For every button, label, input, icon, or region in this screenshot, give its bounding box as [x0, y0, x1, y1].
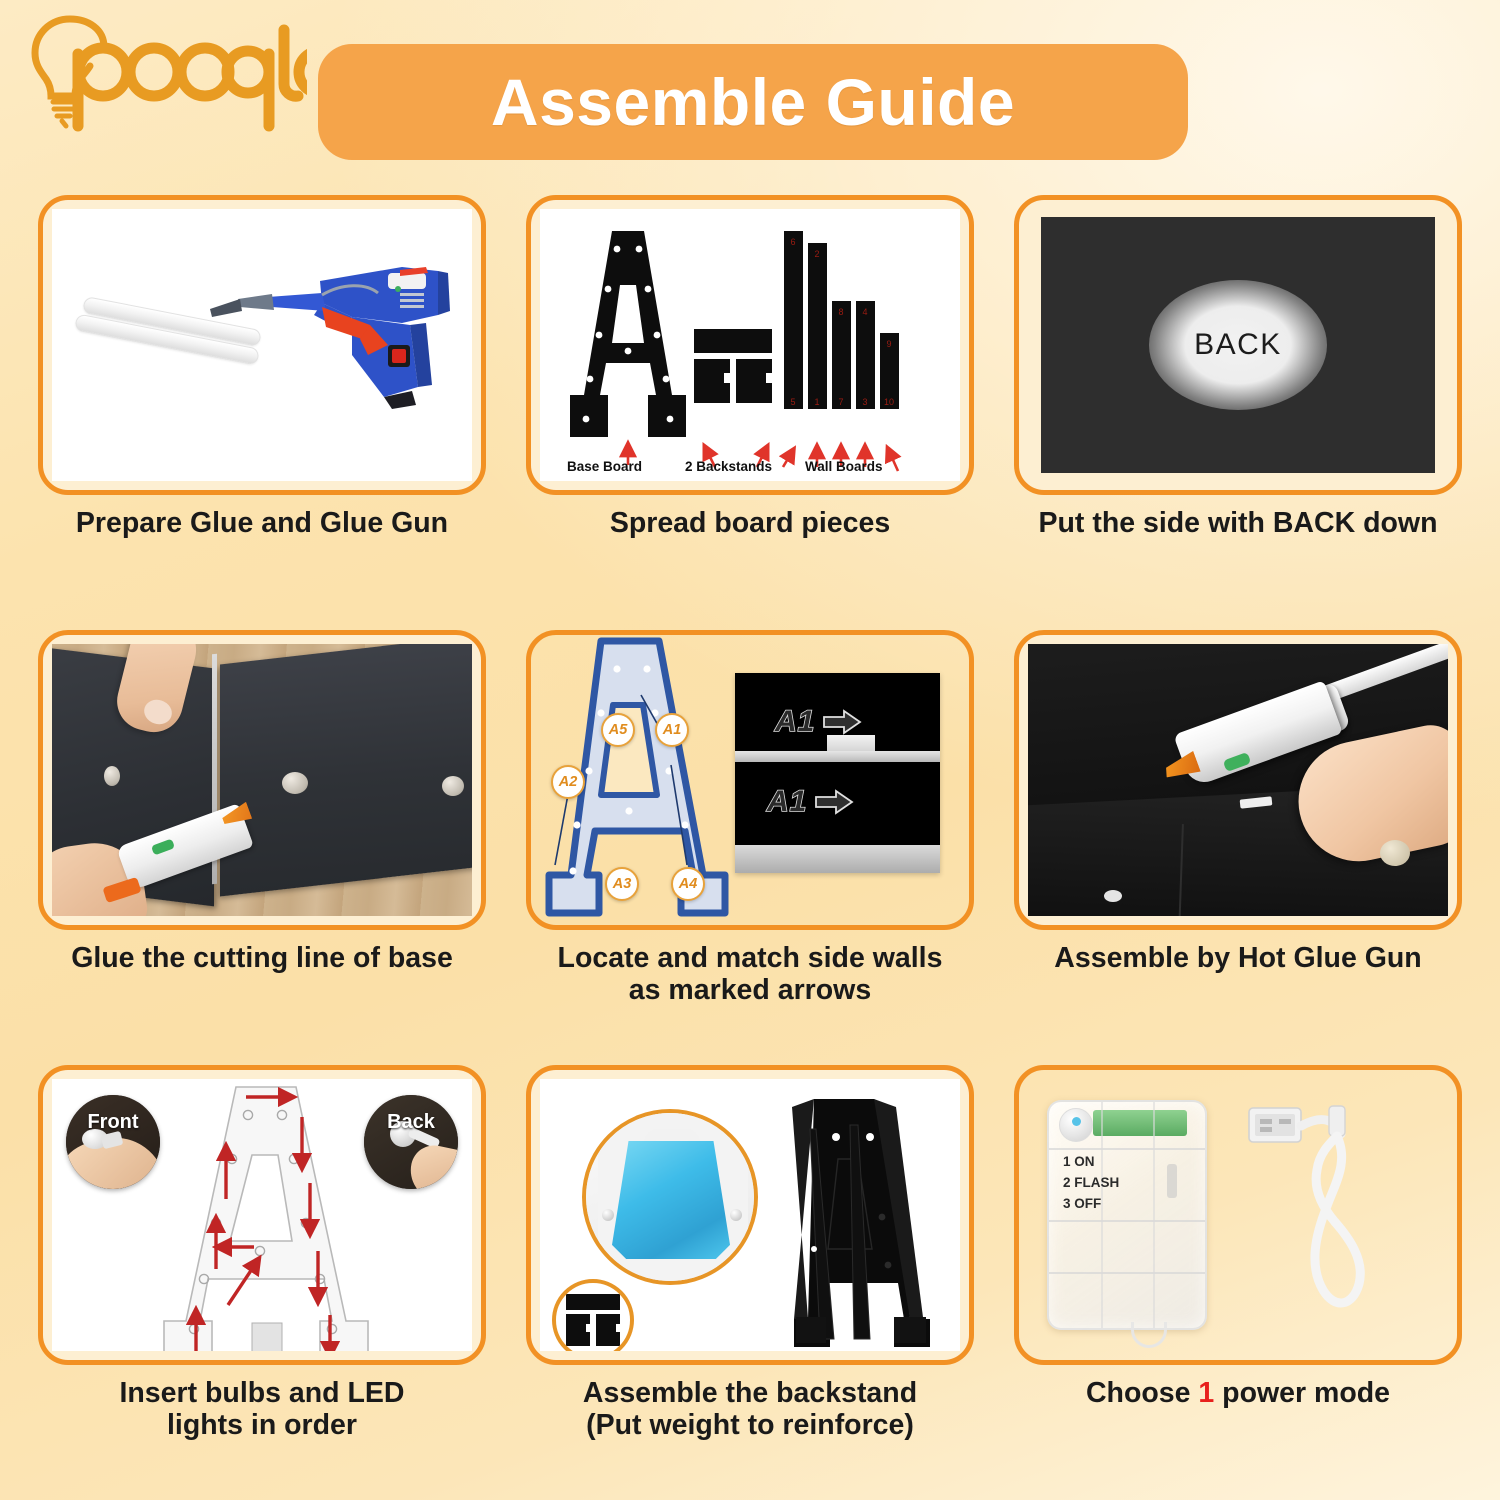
back-inset-photo: Back — [364, 1095, 458, 1189]
step-card-7: Front Back Insert bulbs and LED lights i… — [18, 1065, 506, 1500]
back-label: Back — [364, 1111, 458, 1134]
brand-logo — [22, 14, 307, 134]
pointer-arrows-icon — [540, 209, 960, 481]
base-board-label: Base Board — [567, 459, 642, 474]
steps-grid: Prepare Glue and Glue Gun — [0, 195, 1500, 1500]
glow-spot: BACK — [1149, 280, 1327, 410]
step-1-frame — [38, 195, 486, 495]
mode-switch-knob[interactable] — [1059, 1108, 1093, 1142]
right-arrow-icon — [814, 789, 854, 815]
step-8-caption-line2: (Put weight to reinforce) — [583, 1410, 917, 1442]
board-pieces-diagram: 6 2 8 4 9 5 1 7 3 10 — [540, 209, 960, 481]
step-3-frame: BACK — [1014, 195, 1462, 495]
a1-label-top: A1 — [775, 705, 815, 739]
step-5-frame: A5 A1 A2 A3 A4 A1 — [526, 630, 974, 930]
step-7-caption-line2: lights in order — [119, 1410, 404, 1442]
step-card-4: Glue the cutting line of base — [18, 630, 506, 1065]
step-6-frame — [1014, 630, 1462, 930]
glue-cutting-line-photo — [52, 644, 472, 916]
step-5-caption-line1: Locate and match side walls — [558, 943, 943, 975]
badge-a4: A4 — [671, 867, 705, 901]
step-8-frame — [526, 1065, 974, 1365]
step-1-caption: Prepare Glue and Glue Gun — [76, 508, 448, 540]
step-5-caption-line2: as marked arrows — [558, 975, 943, 1007]
letter-a-template-icon — [160, 1083, 372, 1351]
badge-a1: A1 — [655, 713, 689, 747]
back-label: BACK — [1194, 328, 1282, 362]
step-7-caption-line1: Insert bulbs and LED — [119, 1378, 404, 1410]
blue-glue-gun-icon — [202, 237, 452, 412]
front-label: Front — [66, 1111, 160, 1134]
a1-label-bottom: A1 — [767, 785, 807, 819]
step-5-caption: Locate and match side walls as marked ar… — [558, 943, 943, 1007]
step-7-frame: Front Back — [38, 1065, 486, 1365]
step-7-caption: Insert bulbs and LED lights in order — [119, 1378, 404, 1442]
step-card-3: BACK Put the side with BACK down — [994, 195, 1482, 630]
step-card-1: Prepare Glue and Glue Gun — [18, 195, 506, 630]
mode-option-on: 1 ON — [1063, 1152, 1119, 1173]
page-title-banner: Assemble Guide — [318, 44, 1188, 160]
battery-box-icon: 1 ON 2 FLASH 3 OFF — [1047, 1100, 1207, 1330]
step-4-caption: Glue the cutting line of base — [71, 943, 453, 975]
step-3-caption: Put the side with BACK down — [1039, 508, 1438, 540]
lightbulb-icon — [22, 14, 307, 134]
usb-cable-icon — [1231, 1098, 1421, 1338]
step-2-caption: Spread board pieces — [610, 508, 890, 540]
hot-glue-gun-photo — [1028, 644, 1448, 916]
right-arrow-icon — [822, 709, 862, 735]
water-bag-icon — [612, 1141, 730, 1259]
backstand-piece-icon — [564, 1292, 622, 1348]
page-header: Assemble Guide — [0, 0, 1500, 195]
glue-gun-photo — [52, 209, 472, 481]
page-title: Assemble Guide — [491, 69, 1015, 135]
step-9-caption: Choose 1 power mode — [1086, 1378, 1390, 1410]
badge-a5: A5 — [601, 713, 635, 747]
water-bag-closeup — [582, 1109, 758, 1285]
step-8-caption-line1: Assemble the backstand — [583, 1378, 917, 1410]
wall-boards-label: Wall Boards — [805, 459, 883, 474]
power-mode-list: 1 ON 2 FLASH 3 OFF — [1063, 1152, 1119, 1215]
step-card-2: 6 2 8 4 9 5 1 7 3 10 — [506, 195, 994, 630]
step-9-caption-suffix: power mode — [1214, 1377, 1390, 1409]
step-8-caption: Assemble the backstand (Put weight to re… — [583, 1378, 917, 1442]
step-6-caption: Assemble by Hot Glue Gun — [1054, 943, 1421, 975]
step-card-6: Assemble by Hot Glue Gun — [994, 630, 1482, 1065]
backstand-assembly-photo — [540, 1079, 960, 1351]
bulb-insertion-diagram: Front Back — [52, 1079, 472, 1351]
step-2-frame: 6 2 8 4 9 5 1 7 3 10 — [526, 195, 974, 495]
badge-a3: A3 — [605, 867, 639, 901]
back-side-photo: BACK — [1041, 217, 1436, 473]
step-card-8: Assemble the backstand (Put weight to re… — [506, 1065, 994, 1500]
step-9-caption-prefix: Choose — [1086, 1377, 1198, 1409]
step-4-frame — [38, 630, 486, 930]
step-9-caption-accent: 1 — [1198, 1377, 1214, 1409]
front-inset-photo: Front — [66, 1095, 160, 1189]
step-9-frame: 1 ON 2 FLASH 3 OFF — [1014, 1065, 1462, 1365]
backstands-label: 2 Backstands — [685, 459, 772, 474]
backstand-closeup — [552, 1279, 634, 1351]
step-card-9: 1 ON 2 FLASH 3 OFF — [994, 1065, 1482, 1500]
mode-option-off: 3 OFF — [1063, 1194, 1119, 1215]
mode-option-flash: 2 FLASH — [1063, 1173, 1119, 1194]
assembled-letter-a-icon — [754, 1089, 954, 1351]
badge-a2: A2 — [551, 765, 585, 799]
step-card-5: A5 A1 A2 A3 A4 A1 — [506, 630, 994, 1065]
letter-a-markers-diagram: A5 A1 A2 A3 A4 — [535, 635, 735, 925]
side-wall-match-photo: A1 A1 — [735, 673, 940, 873]
